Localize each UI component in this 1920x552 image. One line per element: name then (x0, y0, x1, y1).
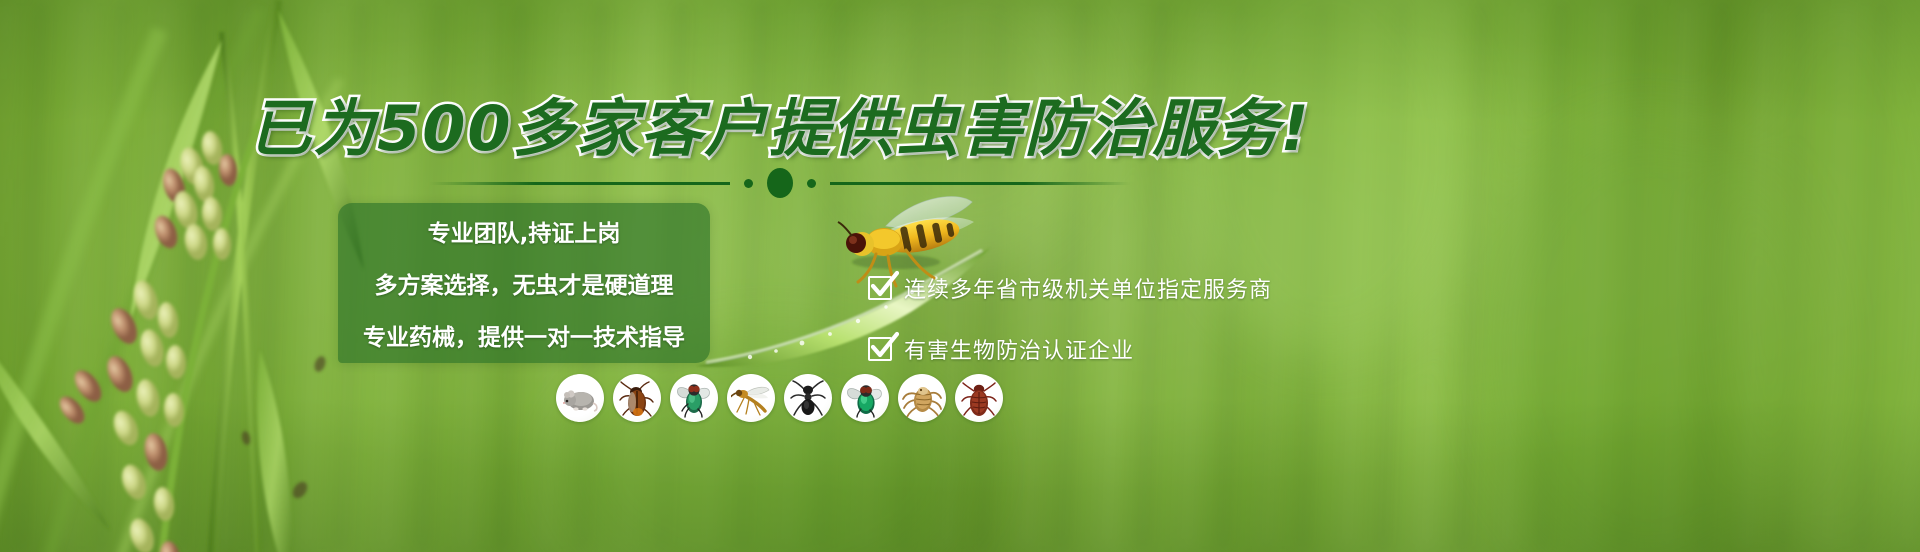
feature-line-3: 专业药械，提供一对一技术指导 (363, 318, 685, 352)
pest-icon-flea[interactable] (898, 374, 946, 422)
pest-control-hero-banner: 已为500多家客户提供虫害防治服务! (0, 0, 1920, 552)
checkbox-checked-icon (868, 276, 892, 300)
pest-icon-cockroach[interactable] (613, 374, 661, 422)
list-item: 有害生物防治认证企业 (868, 333, 1272, 365)
housefly-icon (674, 378, 714, 418)
mouse-icon (560, 378, 600, 418)
bedbug-icon (959, 378, 999, 418)
mosquito-icon (731, 378, 771, 418)
small-dot-icon (744, 179, 753, 188)
credential-text: 有害生物防治认证企业 (904, 333, 1134, 365)
feature-line-1: 专业团队,持证上岗 (428, 214, 621, 248)
ant-icon (788, 378, 828, 418)
pest-icon-ant[interactable] (784, 374, 832, 422)
greenbottle-fly-icon (845, 378, 885, 418)
pest-icon-greenbottle-fly[interactable] (841, 374, 889, 422)
pest-icon-mosquito[interactable] (727, 374, 775, 422)
pest-icon-mouse[interactable] (556, 374, 604, 422)
pest-icon-bedbug[interactable] (955, 374, 1003, 422)
banner-headline: 已为500多家客户提供虫害防治服务! (249, 78, 1311, 168)
list-item: 连续多年省市级机关单位指定服务商 (868, 272, 1272, 304)
divider-line-right (830, 182, 1130, 185)
feature-panel: 专业团队,持证上岗 多方案选择，无虫才是硬道理 专业药械，提供一对一技术指导 (338, 203, 710, 363)
cockroach-icon (617, 378, 657, 418)
checkbox-checked-icon (868, 337, 892, 361)
pest-icon-housefly[interactable] (670, 374, 718, 422)
divider-line-left (430, 182, 730, 185)
credential-text: 连续多年省市级机关单位指定服务商 (904, 272, 1272, 304)
pest-type-icon-row (556, 374, 1003, 422)
feature-line-2: 多方案选择，无虫才是硬道理 (375, 266, 674, 300)
flea-icon (902, 378, 942, 418)
headline-container: 已为500多家客户提供虫害防治服务! (0, 78, 1560, 168)
credentials-list: 连续多年省市级机关单位指定服务商 有害生物防治认证企业 (868, 272, 1272, 365)
small-dot-icon (807, 179, 816, 188)
